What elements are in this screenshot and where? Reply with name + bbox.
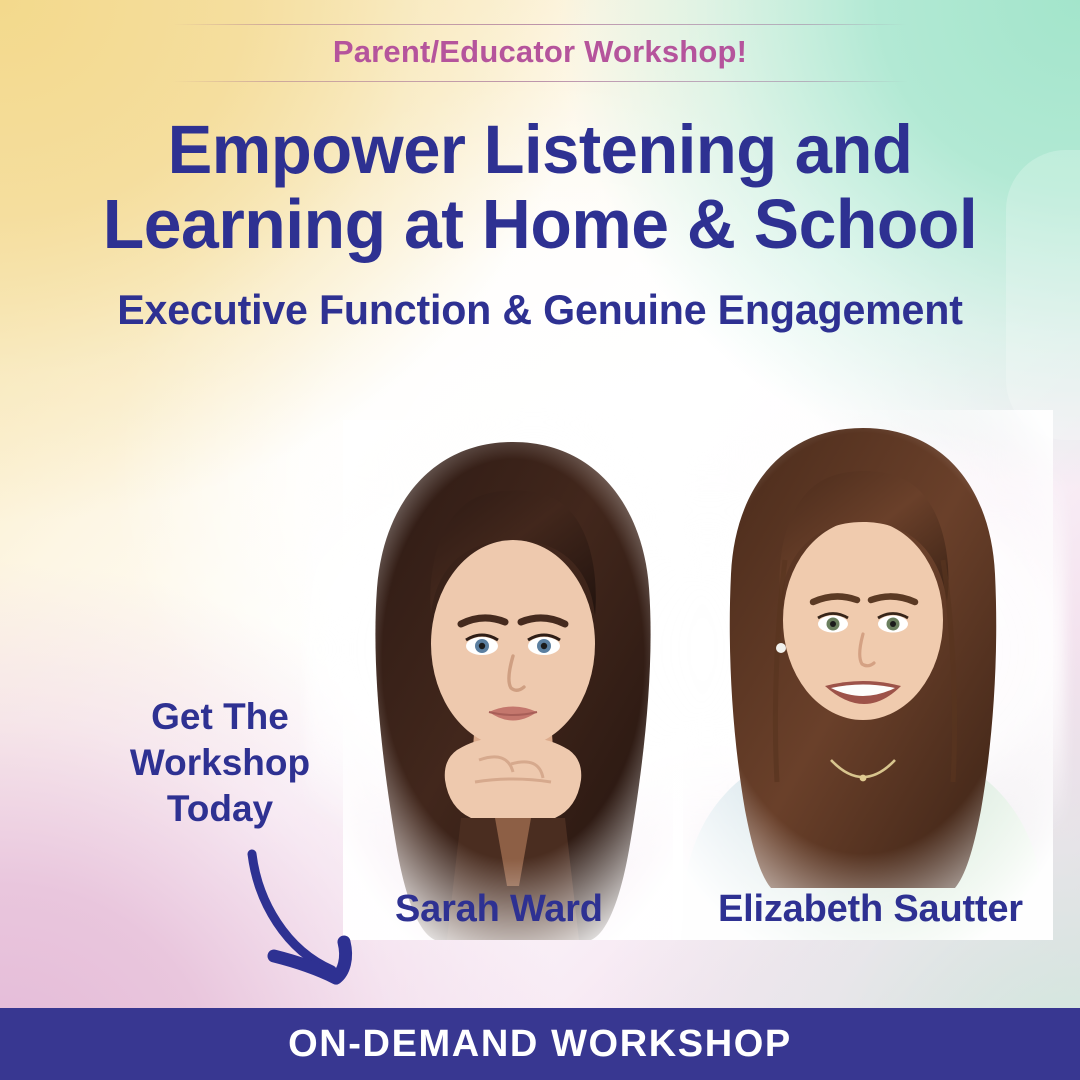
headline-line-1: Empower Listening and (16, 116, 1064, 184)
speaker-name-sarah-ward: Sarah Ward (395, 888, 603, 931)
subtitle: Executive Function & Genuine Engagement (11, 286, 1069, 334)
footer-banner: ON-DEMAND WORKSHOP (0, 1008, 1080, 1080)
eyebrow-banner: Parent/Educator Workshop! (0, 24, 1080, 82)
portrait-elizabeth-sautter (673, 410, 1053, 940)
speaker-name-elizabeth-sautter: Elizabeth Sautter (718, 888, 1023, 931)
speaker-names: Sarah Ward Elizabeth Sautter (0, 888, 1080, 942)
cta-text: Get The Workshop Today (104, 694, 336, 832)
divider-line-bottom (172, 81, 908, 82)
footer-label: ON-DEMAND WORKSHOP (288, 1023, 792, 1066)
headline-line-2: Learning at Home & School (16, 190, 1064, 259)
portrait-sarah-ward (343, 420, 683, 940)
page-title: Empower Listening and Learning at Home &… (0, 116, 1080, 258)
promo-poster: Parent/Educator Workshop! Empower Listen… (0, 0, 1080, 1080)
speaker-photo-group (295, 380, 1080, 940)
eyebrow-label: Parent/Educator Workshop! (333, 25, 747, 81)
curved-down-right-arrow-icon (228, 846, 368, 992)
